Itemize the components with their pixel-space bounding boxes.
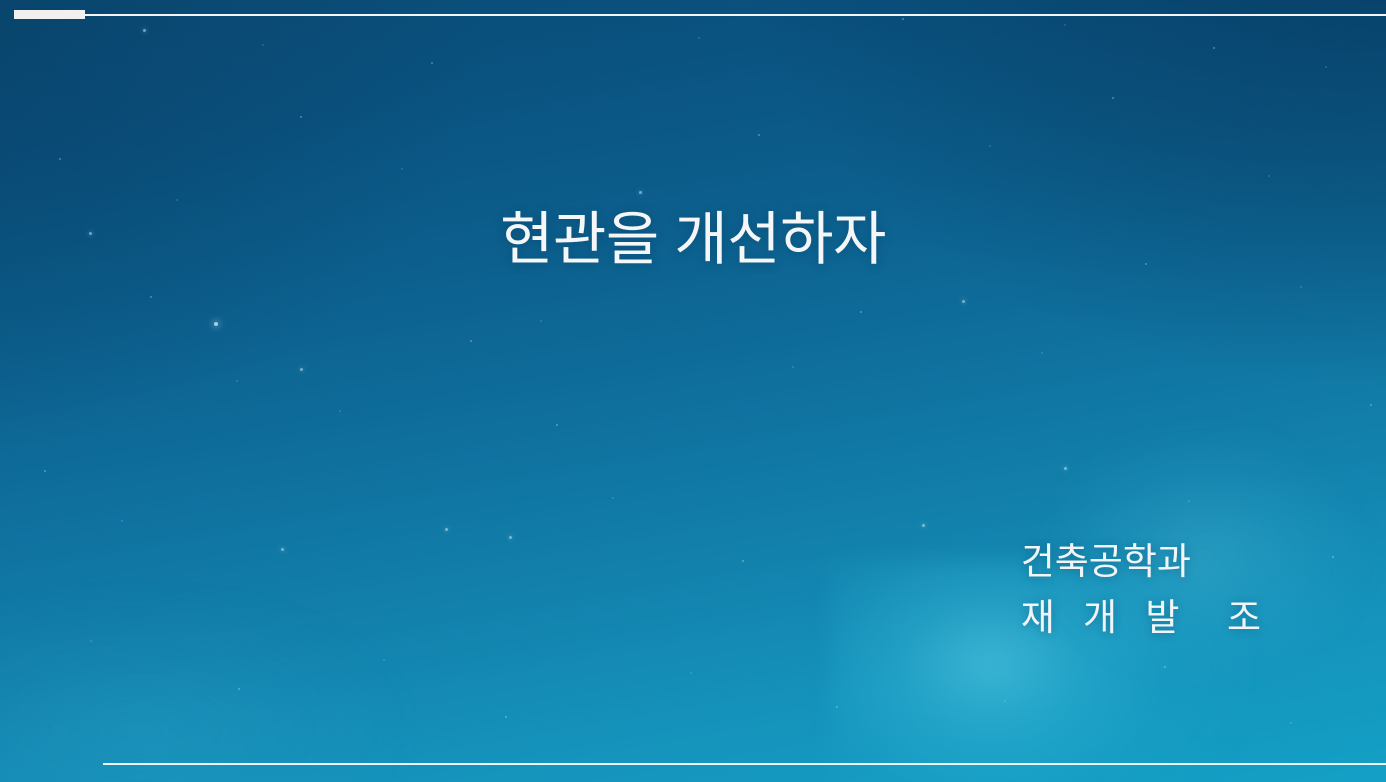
star-icon [121,520,123,522]
star-icon [1370,404,1372,406]
star-icon [1268,175,1270,177]
star-icon [962,300,965,303]
subtitle-container: 건축공학과 재 개 발 조 [1021,534,1270,646]
star-icon [281,548,284,551]
subtitle-line-department: 건축공학과 [1021,534,1270,590]
star-icon [401,168,403,170]
title-container: 현관을 개선하자 [0,206,1386,274]
star-icon [1112,97,1114,99]
star-icon [1004,700,1006,702]
star-icon [922,524,925,527]
subtitle-line-team: 재 개 발 조 [1021,590,1270,646]
star-icon [792,366,794,368]
star-icon [1164,666,1166,668]
star-icon [1300,286,1302,288]
star-icon [339,410,341,412]
star-icon [639,191,642,194]
title-slide: 현관을 개선하자 건축공학과 재 개 발 조 [0,0,1386,782]
star-icon [836,706,838,708]
star-icon [176,199,178,201]
star-icon [1290,722,1292,724]
star-icon [150,296,152,298]
star-icon [860,311,862,313]
star-icon [556,424,558,426]
star-icon [1188,500,1190,502]
star-icon [431,62,433,64]
star-icon [989,145,991,147]
star-icon [300,116,302,118]
star-icon [214,322,218,326]
star-icon [1064,24,1066,26]
top-left-accent-tab [14,10,85,19]
star-icon [742,560,744,562]
star-icon [300,368,303,371]
star-icon [540,320,542,322]
star-icon [470,340,472,342]
star-icon [1332,556,1334,558]
slide-title: 현관을 개선하자 [500,206,886,274]
star-icon [1325,66,1327,68]
star-icon [902,18,904,20]
star-icon [698,37,700,39]
star-icon [1041,352,1043,354]
star-icon [236,380,238,382]
starfield [0,0,1386,782]
star-icon [262,44,264,46]
star-icon [44,470,46,472]
top-divider-rule [85,14,1386,16]
star-icon [505,716,507,718]
star-icon [143,29,146,32]
star-icon [238,688,240,690]
bottom-divider-rule [103,763,1386,765]
star-icon [1064,467,1067,470]
star-icon [690,672,692,674]
star-icon [383,659,385,661]
star-icon [90,640,92,642]
star-icon [758,134,760,136]
star-icon [612,497,614,499]
star-icon [445,528,448,531]
star-icon [59,158,61,160]
star-icon [1213,47,1215,49]
star-icon [509,536,512,539]
